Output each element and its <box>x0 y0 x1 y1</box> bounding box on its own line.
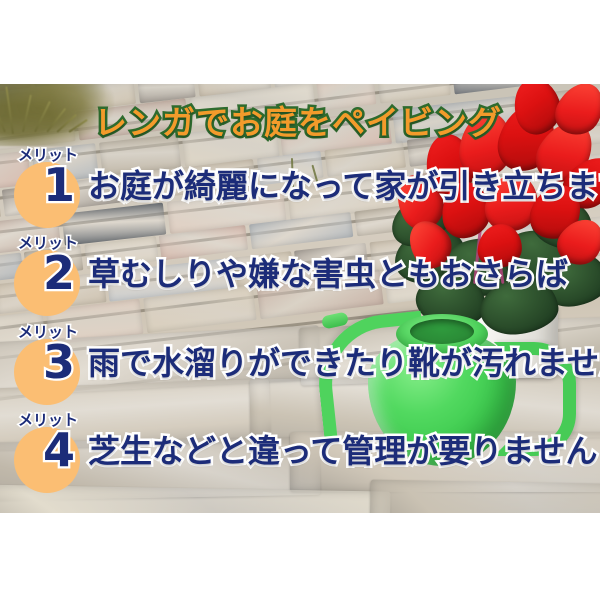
merit-number-3: 3 <box>26 339 92 385</box>
promo-banner: レンガでお庭をペイビング メリット 1 お庭が綺麗になって家が引き立ちます メリ… <box>0 0 600 600</box>
page-title: レンガでお庭をペイビング <box>94 106 502 139</box>
merit-row-4: メリット 4 芝生などと違って管理が要りません <box>0 413 600 503</box>
merit-text-2: 草むしりや嫌な害虫ともおさらば <box>88 258 568 290</box>
merit-number-4: 4 <box>26 427 92 473</box>
merit-text-4: 芝生などと違って管理が要りません <box>88 435 597 467</box>
merit-row-3: メリット 3 雨で水溜りができたり靴が汚れません <box>0 325 600 415</box>
merit-number-1: 1 <box>26 162 92 208</box>
merit-number-2: 2 <box>26 250 92 296</box>
merit-row-2: メリット 2 草むしりや嫌な害虫ともおさらば <box>0 236 600 326</box>
merit-text-1: お庭が綺麗になって家が引き立ちます <box>88 170 600 202</box>
merit-text-3: 雨で水溜りができたり靴が汚れません <box>88 347 600 379</box>
merit-row-1: メリット 1 お庭が綺麗になって家が引き立ちます <box>0 148 600 238</box>
